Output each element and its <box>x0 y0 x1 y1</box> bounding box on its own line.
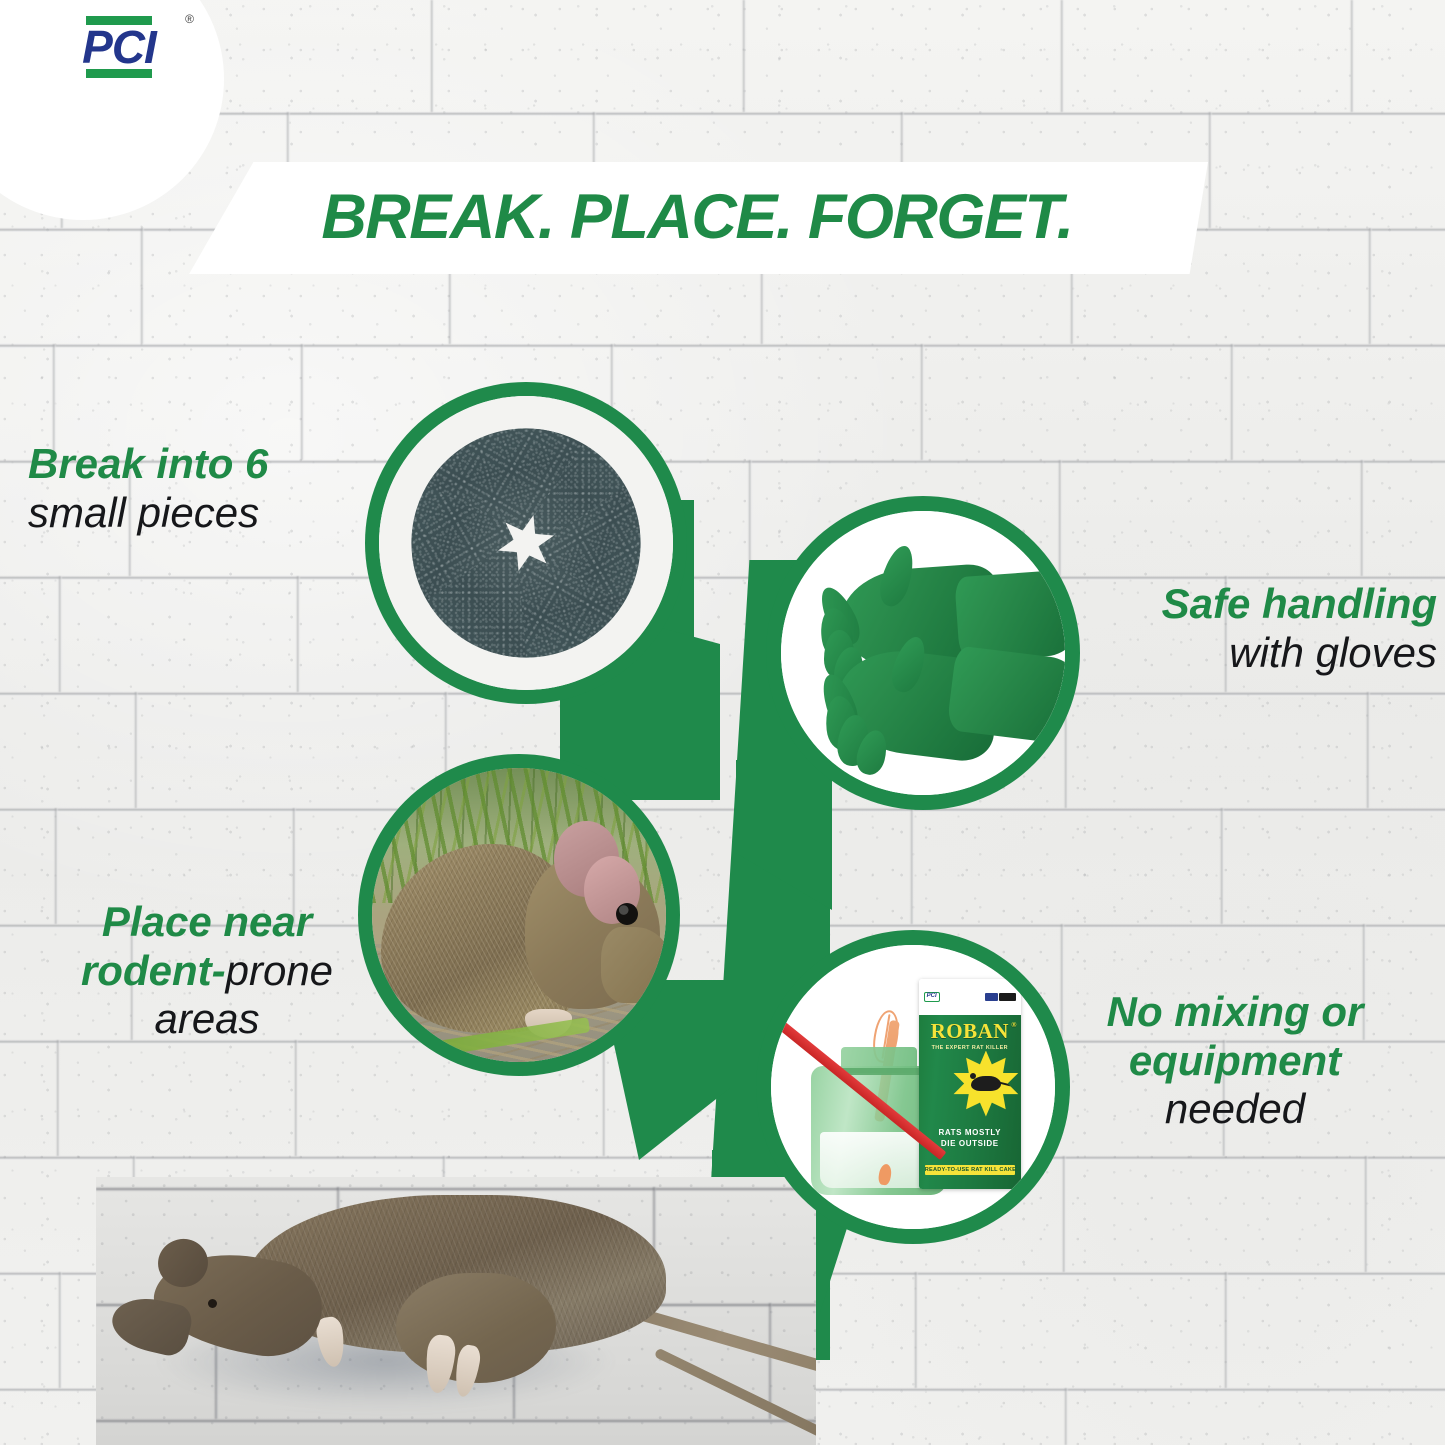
pack-brand-name: ROBAN® <box>931 1021 1009 1042</box>
step-label-safe-handling-green: Safe handling <box>1162 580 1437 627</box>
step-label-break-into-6-black: small pieces <box>28 489 259 536</box>
step-label-no-mixing-line-2: equipment <box>1129 1037 1341 1084</box>
page-title: BREAK. PLACE. FORGET. <box>321 181 1072 253</box>
step-icon-circle-break-into-6[interactable] <box>365 382 687 704</box>
infographic-canvas: PCI ROBAN® THE EXPERT RAT KILLER <box>0 0 1445 1445</box>
rodenticide-cake-six-pieces-icon <box>379 396 673 690</box>
step-label-place-line-3: areas <box>154 995 259 1042</box>
product-pack[interactable]: PCI ROBAN® THE EXPERT RAT KILLER <box>919 979 1021 1189</box>
step-label-place-line-2-green: rodent- <box>81 947 226 994</box>
step-label-no-mixing: No mixing or equipment needed <box>1035 988 1435 1134</box>
pci-logo-icon: PCI ® <box>60 16 178 78</box>
step-label-place-line-2-black: prone <box>226 947 333 994</box>
pci-logo-text: PCI <box>60 16 178 78</box>
step-label-break-into-6: Break into 6 small pieces <box>28 440 358 537</box>
pack-tagline: THE EXPERT RAT KILLER <box>932 1045 1008 1051</box>
pack-header: PCI <box>919 979 1021 1015</box>
step-icon-circle-no-mixing[interactable]: PCI ROBAN® THE EXPERT RAT KILLER <box>756 930 1070 1244</box>
step-icon-circle-place-near-rodent-areas[interactable] <box>358 754 680 1076</box>
dead-rat-photo <box>96 1177 816 1445</box>
step-label-safe-handling-black: with gloves <box>1229 629 1437 676</box>
pack-strip-text: READY-TO-USE RAT KILL CAKE <box>925 1165 1015 1175</box>
step-label-place-line-1: Place near <box>102 898 312 945</box>
title-banner: BREAK. PLACE. FORGET. <box>186 162 1208 274</box>
no-mixing-jar-and-product-pack-icon: PCI ROBAN® THE EXPERT RAT KILLER <box>771 945 1055 1229</box>
pack-pci-logo: PCI <box>924 992 940 1002</box>
live-rat-photo-icon <box>372 768 666 1062</box>
step-label-place-near-rodent-areas: Place near rodent-prone areas <box>32 898 382 1044</box>
step-label-no-mixing-line-1: No mixing or <box>1107 988 1364 1035</box>
step-label-safe-handling: Safe handling with gloves <box>1037 580 1437 677</box>
rat-silhouette-icon <box>971 1076 1001 1091</box>
step-label-no-mixing-line-3: needed <box>1165 1085 1305 1132</box>
certification-badge-icon <box>985 993 1016 1001</box>
pack-trademark: ® <box>1011 1022 1017 1029</box>
registered-trademark-icon: ® <box>185 12 194 26</box>
step-label-break-into-6-green: Break into 6 <box>28 440 268 487</box>
pack-claim-line-1: RATS MOSTLY <box>919 1128 1021 1139</box>
rubber-gloves-icon <box>781 511 1065 795</box>
step-icon-circle-safe-handling[interactable] <box>766 496 1080 810</box>
